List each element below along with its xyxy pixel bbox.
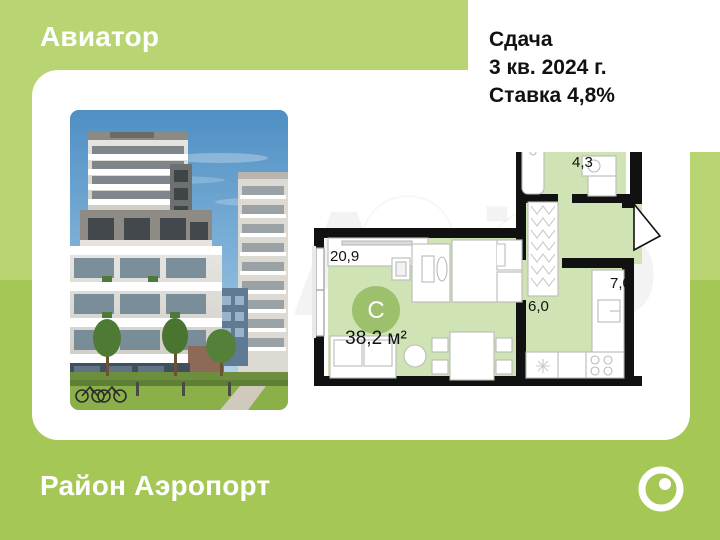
listing-card-root: Авиатор: [0, 0, 720, 540]
info-mortgage-rate: Ставка 4,8%: [489, 82, 720, 110]
room-label-wardrobe: 6,0: [528, 298, 549, 315]
info-completion-date: 3 кв. 2024 г.: [489, 54, 720, 82]
apartment-area-label: 38,2 м²: [345, 328, 407, 349]
floor-plan[interactable]: 20,9 4,3 6,0 7,0 С 38,2 м²: [300, 140, 670, 402]
info-box: Сдача 3 кв. 2024 г. Ставка 4,8%: [468, 0, 720, 152]
page-title: Авиатор: [40, 21, 159, 53]
info-completion-label: Сдача: [489, 26, 720, 54]
room-label-bathroom: 4,3: [572, 154, 593, 171]
apartment-type-letter: С: [367, 297, 384, 324]
eye-ring-logo-icon[interactable]: [638, 466, 684, 512]
room-label-hallway: 7,0: [610, 275, 631, 292]
room-label-living: 20,9: [330, 248, 359, 265]
district-title: Район Аэропорт: [40, 470, 270, 502]
building-photo[interactable]: [70, 110, 288, 410]
